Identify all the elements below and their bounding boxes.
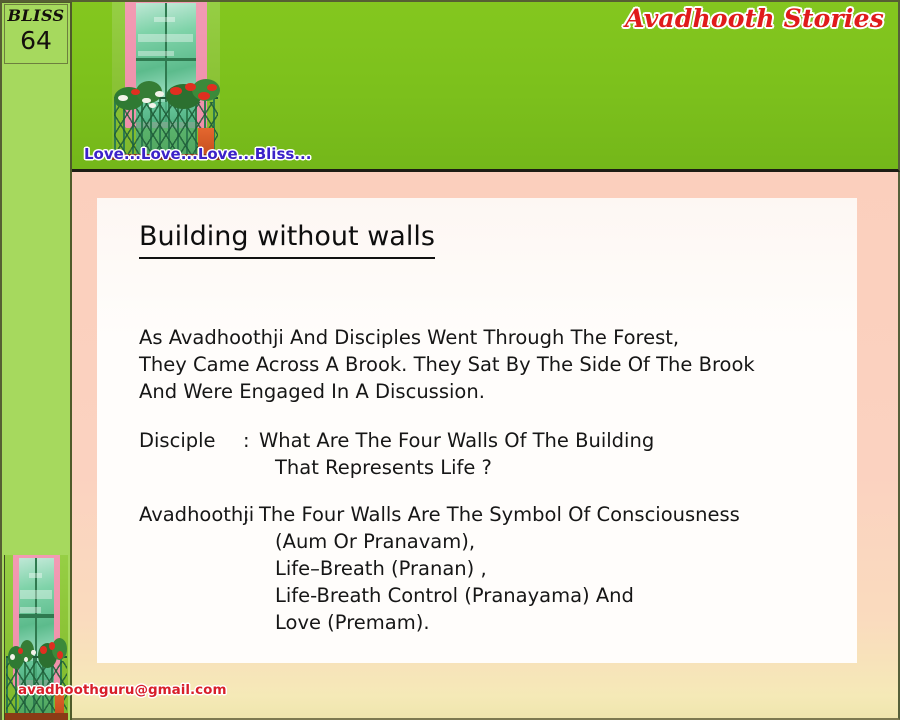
window-photo-art (112, 0, 220, 160)
dialogue-row: That Represents Life ? (139, 454, 839, 481)
slide-top-border (0, 0, 900, 2)
window-mullion (19, 614, 54, 618)
dialogue-line: That Represents Life ? (275, 454, 492, 481)
dialogue-first-row: Avadhoothji:The Four Walls Are The Symbo… (139, 501, 839, 528)
page-title: Building without walls (139, 220, 435, 259)
dialogue-line: Love (Premam). (275, 609, 430, 636)
red-flower (18, 648, 23, 654)
window-mullion (136, 58, 196, 62)
dialogue-row: Life–Breath (Pranan) , (139, 555, 839, 582)
header-banner: Avadhooth Stories Love...Love...Love...B… (72, 0, 900, 172)
white-flower (31, 650, 35, 655)
dialogue-first-row: Disciple:What Are The Four Walls Of The … (139, 427, 839, 454)
dialogue-line: (Aum Or Pranavam), (275, 528, 475, 555)
header-window-photo (112, 0, 220, 160)
dialogue-line: Life-Breath Control (Pranayama) And (275, 582, 634, 609)
content-panel: Building without walls As Avadhoothji An… (97, 198, 857, 663)
page-number: 64 (5, 26, 67, 56)
red-flower (185, 83, 196, 91)
photo-base-strip (5, 713, 68, 720)
intro-line: And Were Engaged In A Discussion. (139, 378, 839, 405)
bliss-page-badge: BLISS 64 (4, 4, 68, 64)
intro-paragraph: As Avadhoothji And Disciples Went Throug… (139, 324, 839, 405)
slide-left-border (0, 0, 2, 720)
sidebar: BLISS 64 (0, 0, 72, 720)
bliss-label: BLISS (5, 6, 67, 26)
speaker-label: Disciple (139, 427, 243, 454)
body-text: As Avadhoothji And Disciples Went Throug… (139, 324, 839, 656)
white-flower (118, 95, 128, 101)
speaker-colon: : (243, 501, 259, 528)
dialogue-line: The Four Walls Are The Symbol Of Conscio… (259, 501, 740, 528)
intro-line: They Came Across A Brook. They Sat By Th… (139, 351, 839, 378)
red-flower (57, 651, 63, 659)
contact-email[interactable]: avadhoothguru@gmail.com (18, 682, 227, 698)
red-flower (207, 84, 217, 91)
white-flower (10, 654, 15, 660)
glass-reflection (20, 607, 41, 613)
glass-reflection (29, 573, 41, 578)
glass-reflection (138, 34, 192, 42)
dialogue-line: Life–Breath (Pranan) , (275, 555, 487, 582)
brand-title: Avadhooth Stories (625, 4, 884, 34)
intro-line: As Avadhoothji And Disciples Went Throug… (139, 324, 839, 351)
glass-reflection (20, 590, 52, 599)
speaker-label: Avadhoothji (139, 501, 243, 528)
flower-box (112, 74, 220, 122)
slide: BLISS 64 (0, 0, 900, 720)
dialogue-line: What Are The Four Walls Of The Building (259, 427, 654, 454)
flower-box (5, 631, 68, 681)
white-flower (149, 103, 157, 108)
white-flower (155, 91, 164, 97)
content-frame: Building without walls As Avadhoothji An… (72, 172, 900, 720)
glass-reflection (154, 17, 175, 22)
dialogue-row: (Aum Or Pranavam), (139, 528, 839, 555)
glass-reflection (138, 51, 174, 57)
dialogue-row: Love (Premam). (139, 609, 839, 636)
dialogue-row: Life-Breath Control (Pranayama) And (139, 582, 839, 609)
dialogue-avadhoothji: Avadhoothji:The Four Walls Are The Symbo… (139, 501, 839, 636)
dialogue-disciple: Disciple:What Are The Four Walls Of The … (139, 427, 839, 481)
tagline-text: Love...Love...Love...Bliss... (84, 145, 311, 163)
speaker-colon: : (243, 427, 259, 454)
